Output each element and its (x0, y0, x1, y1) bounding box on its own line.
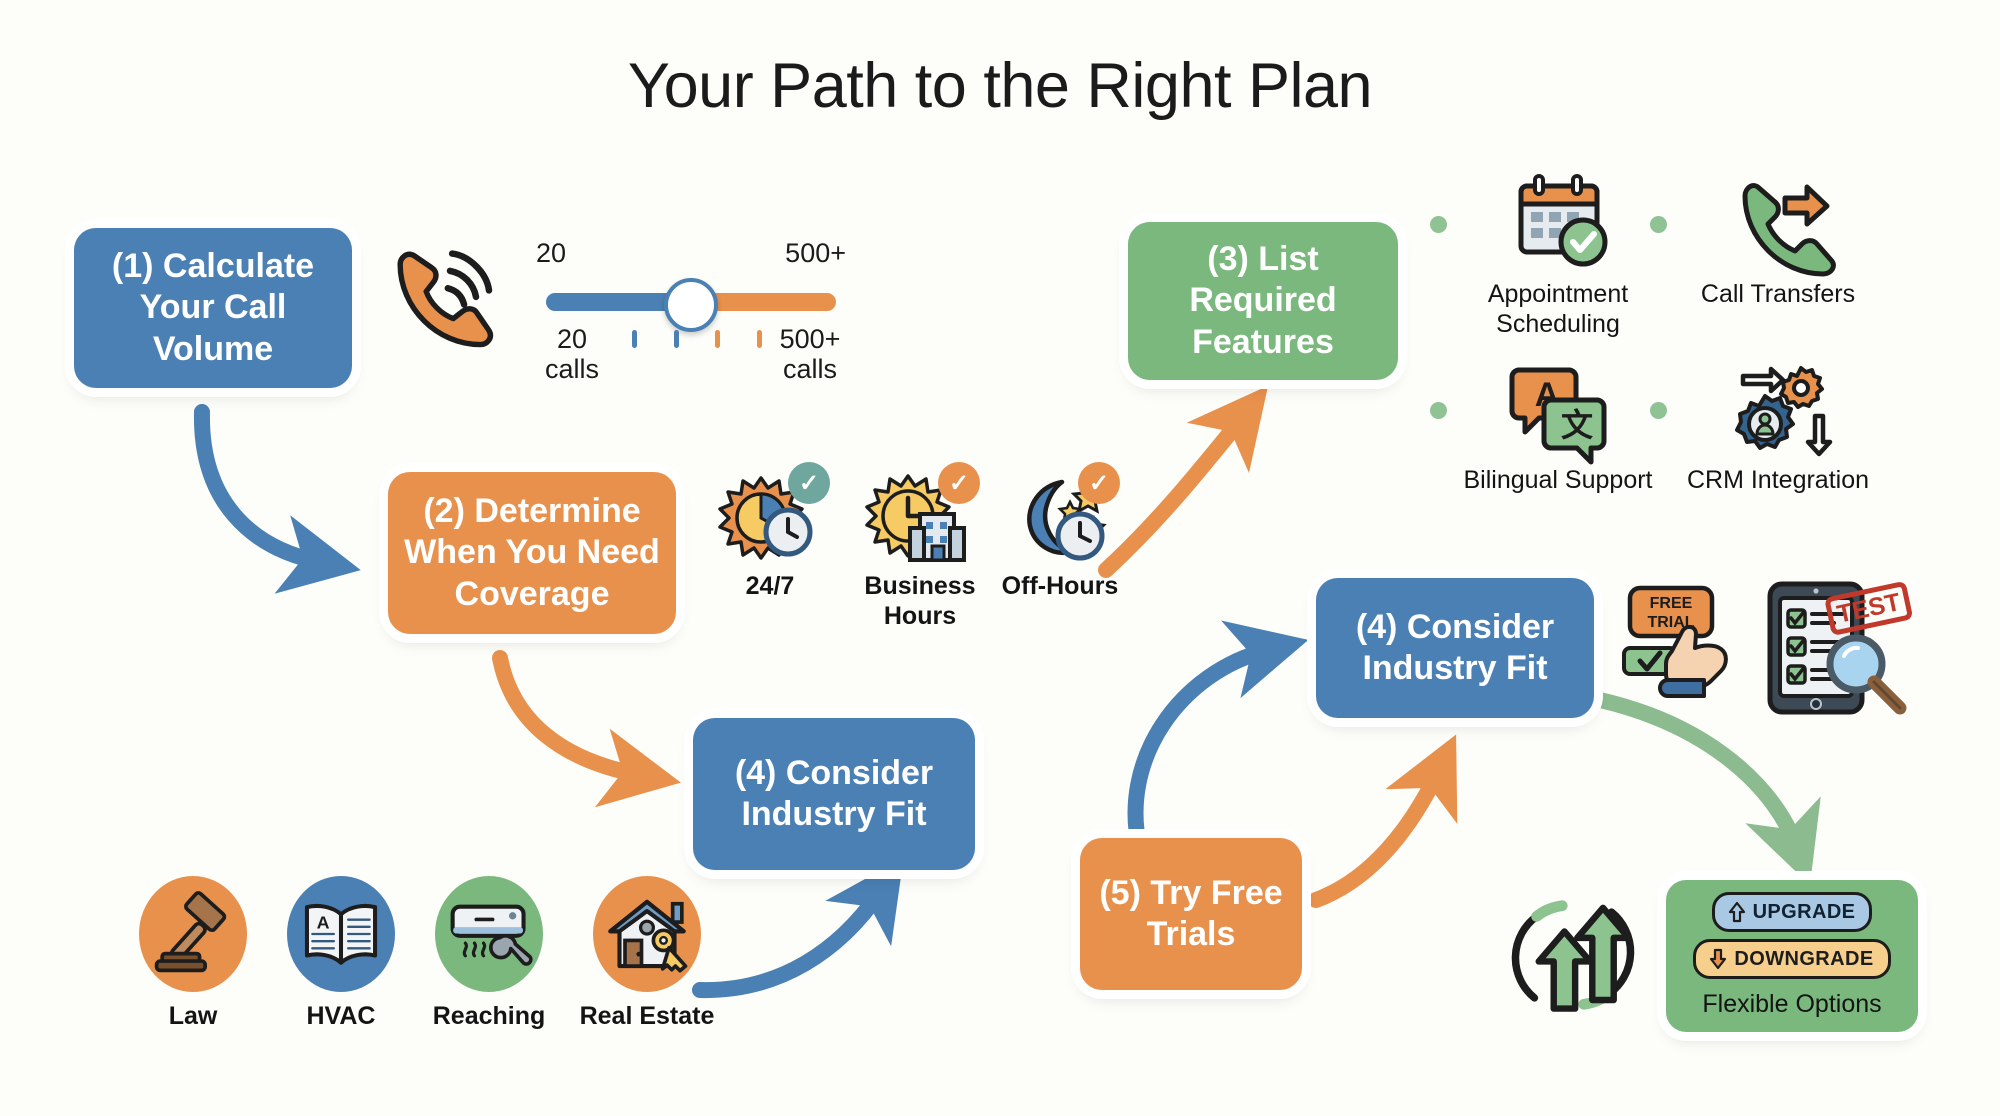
svg-text:FREE: FREE (1650, 595, 1693, 612)
free-trial-button-icon: FREE TRIAL (1630, 588, 1712, 636)
arrow-step2-to-step4a (500, 658, 640, 775)
phone-transfer-arrow-icon (1723, 172, 1833, 276)
industry-label-reaching: Reaching (414, 1002, 564, 1032)
feature-label-appointment-scheduling: Appointment Scheduling (1458, 280, 1658, 339)
slider-max-value: 500+ (774, 324, 846, 354)
feature-bullet-dot (1650, 216, 1667, 233)
slider-max-label-bottom: 500+ calls (774, 324, 846, 384)
sun-pie-clock-icon: ✓ (714, 470, 826, 566)
slider-min-unit: calls (536, 354, 608, 384)
step-box-4-consider-industry-fit-left[interactable]: (4) Consider Industry Fit (693, 718, 975, 870)
feature-bullet-dot (1650, 402, 1667, 419)
downgrade-pill[interactable]: DOWNGRADE (1693, 939, 1890, 979)
flexible-options-card[interactable]: UPGRADE DOWNGRADE Flexible Options (1666, 880, 1918, 1032)
industry-reaching[interactable]: Reaching (414, 876, 564, 1032)
coverage-label-business-hours: Business Hours (850, 572, 990, 631)
industry-real-estate[interactable]: Real Estate (562, 876, 732, 1032)
gears-user-sync-icon (1723, 358, 1833, 462)
arrow-down-icon (1710, 949, 1726, 969)
flexible-options-caption: Flexible Options (1702, 990, 1881, 1020)
calendar-check-icon (1503, 172, 1613, 276)
arrow-step4b-to-flexible (1600, 700, 1796, 846)
sun-office-building-icon: ✓ (864, 470, 976, 566)
arrow-up-icon (1729, 902, 1745, 922)
industry-law[interactable]: Law (118, 876, 268, 1032)
step-box-3-list-required-features[interactable]: (3) List Required Features (1128, 222, 1398, 380)
feature-label-bilingual-support: Bilingual Support (1458, 466, 1658, 496)
coverage-check-badge-off-hours: ✓ (1078, 462, 1120, 504)
air-conditioner-wrench-icon (435, 876, 543, 992)
step-box-1-calculate-call-volume[interactable]: (1) Calculate Your Call Volume (74, 228, 352, 388)
step-box-4-consider-industry-fit-right[interactable]: (4) Consider Industry Fit (1316, 578, 1594, 718)
upgrade-pill[interactable]: UPGRADE (1712, 892, 1873, 932)
feature-label-call-transfers: Call Transfers (1678, 280, 1878, 310)
industry-label-law: Law (118, 1002, 268, 1032)
two-arrows-cycle-icon (1498, 880, 1648, 1030)
house-key-icon (593, 876, 701, 992)
feature-label-crm-integration: CRM Integration (1678, 466, 1878, 496)
phone-ringing-icon (385, 238, 515, 358)
call-volume-slider[interactable]: 20 500+ 20 calls 500+ calls (536, 238, 846, 368)
free-trial-test-illustration: FREE TRIAL (1618, 580, 1938, 720)
open-book-icon: A (287, 876, 395, 992)
feature-bilingual-support[interactable]: A 文 Bilingual Support (1458, 358, 1658, 496)
slider-min-label-bottom: 20 calls (536, 324, 608, 384)
upgrade-label: UPGRADE (1753, 901, 1856, 924)
feature-bullet-dot (1430, 216, 1447, 233)
feature-crm-integration[interactable]: CRM Integration (1678, 358, 1878, 496)
translate-speech-bubbles-icon: A 文 (1503, 358, 1613, 462)
feature-call-transfers[interactable]: Call Transfers (1678, 172, 1878, 310)
industries-group: Law A HVAC (118, 876, 728, 1046)
coverage-option-business-hours[interactable]: ✓ Business Hours (850, 470, 990, 631)
moon-stars-clock-icon: ✓ (1004, 470, 1116, 566)
svg-text:A: A (317, 913, 330, 933)
industry-label-hvac: HVAC (266, 1002, 416, 1032)
arrow-up-to-step4b (1136, 650, 1268, 850)
coverage-check-badge-business-hours: ✓ (938, 462, 980, 504)
slider-min-label-top: 20 (536, 238, 566, 269)
feature-appointment-scheduling[interactable]: Appointment Scheduling (1458, 172, 1658, 339)
coverage-option-24-7[interactable]: ✓ 24/7 (700, 470, 840, 602)
coverage-label-off-hours: Off-Hours (990, 572, 1130, 602)
slider-max-label-top: 500+ (785, 238, 846, 269)
arrow-step5-to-step4b (1316, 772, 1438, 900)
coverage-label-24-7: 24/7 (700, 572, 840, 602)
gavel-icon (139, 876, 247, 992)
slider-max-unit: calls (774, 354, 846, 384)
slider-min-value: 20 (536, 324, 608, 354)
feature-bullet-dot (1430, 402, 1447, 419)
step-box-5-try-free-trials[interactable]: (5) Try Free Trials (1080, 838, 1302, 990)
step-box-2-determine-coverage[interactable]: (2) Determine When You Need Coverage (388, 472, 676, 634)
downgrade-label: DOWNGRADE (1734, 948, 1873, 971)
svg-text:文: 文 (1561, 406, 1593, 444)
industry-label-real-estate: Real Estate (562, 1002, 732, 1032)
industry-hvac[interactable]: A HVAC (266, 876, 416, 1032)
diagram-canvas: Your Path to the Right Plan (0, 0, 2000, 1116)
arrow-step1-to-step2 (202, 412, 320, 562)
coverage-option-off-hours[interactable]: ✓ Off-Hours (990, 470, 1130, 602)
required-features-group: Appointment Scheduling Call Transfers A … (1430, 172, 1870, 522)
coverage-check-badge-24-7: ✓ (788, 462, 830, 504)
coverage-options-group: ✓ 24/7 ✓ (700, 470, 1130, 650)
